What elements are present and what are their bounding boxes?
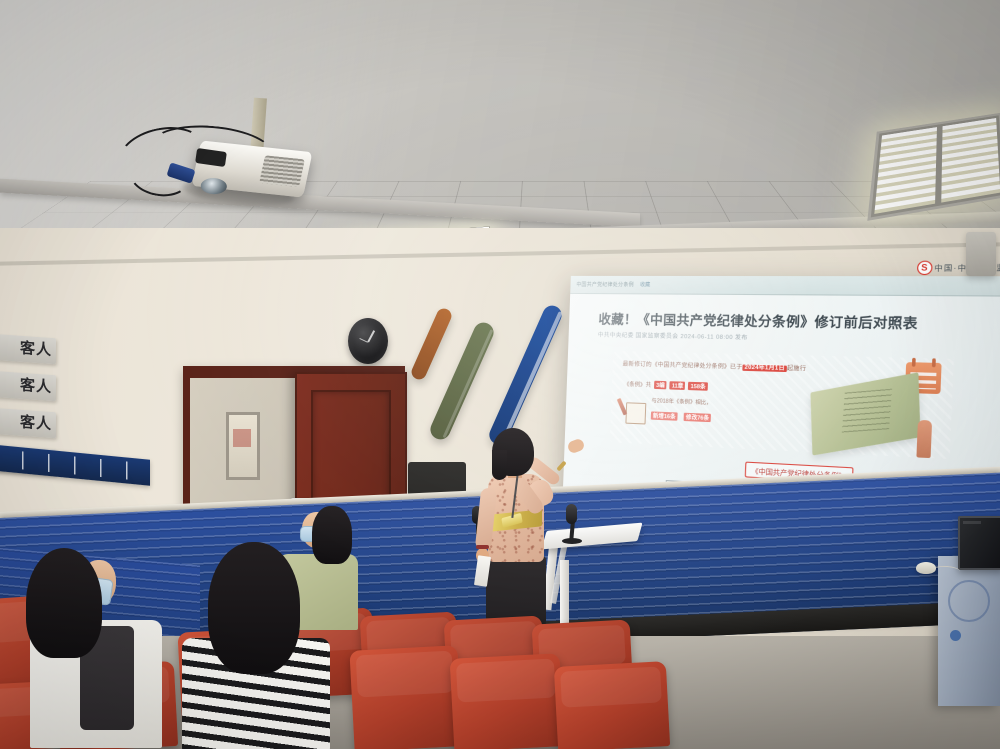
wall-plaque: 客人 (0, 371, 56, 401)
panel-light-cell-right (941, 118, 1000, 203)
control-podium[interactable] (938, 556, 1000, 706)
sogou-logo-icon: S (916, 261, 932, 275)
presenter-hair-side (492, 450, 507, 480)
wall-plaque: 客人 (0, 334, 56, 364)
podium-logo (950, 630, 961, 641)
panel-light-cell-left (874, 127, 937, 214)
change-badge: 新增16条 (651, 411, 678, 420)
pen-and-paper-icon (620, 398, 647, 424)
audience-member-1 (20, 548, 170, 748)
stat-badge: 3编 (654, 381, 667, 390)
door-panel-top (311, 390, 391, 508)
computer-mouse[interactable] (916, 562, 936, 574)
infographic-effective-date-line: 最新修订的《中国共产党纪律处分条例》已于2024年1月1日起施行 (623, 359, 874, 374)
infographic-card: 最新修订的《中国共产党纪律处分条例》已于2024年1月1日起施行 《条例》共 3… (610, 351, 954, 459)
browser-toolbar[interactable]: 中国共产党纪律处分条例 收藏 (570, 276, 1000, 297)
hallway-window (226, 412, 260, 480)
browser-tab-label: 收藏 (640, 281, 650, 288)
presenter-wristwatch (556, 461, 566, 472)
effective-date-prefix: 最新修订的《中国共产党纪律处分条例》已于 (623, 361, 743, 370)
effective-date-highlight: 2024年1月1日 (742, 365, 787, 373)
wall-clock-icon (348, 318, 388, 364)
infographic-stats-row: 《条例》共 3编 11章 158条 (624, 380, 708, 391)
audience-1-hair (26, 548, 102, 658)
book-illustration-figure (916, 420, 932, 458)
seat (554, 661, 670, 749)
conference-room-photo: 客人 客人 客人 客人 中国共产党纪律处分条例 收藏 S 中国·中国纪检监察报 (0, 0, 1000, 749)
wall-plaque: 客人 (0, 408, 56, 438)
audience-member-2 (182, 542, 330, 748)
audience-2-hair (208, 542, 300, 674)
seat (349, 645, 462, 749)
infographic-compare-note: 与2018年《条例》相比， (651, 397, 711, 406)
podium-logo-icon (950, 630, 961, 641)
seat (450, 653, 565, 749)
effective-date-suffix: 起施行 (787, 366, 806, 373)
presenter-bracelet (476, 545, 489, 549)
podium-monitor[interactable] (958, 516, 1000, 570)
stat-badge: 158条 (688, 382, 707, 391)
stat-badge: 11章 (670, 381, 686, 390)
wall-speaker-icon (966, 232, 996, 276)
stats-label: 《条例》共 (624, 380, 651, 389)
pen-icon-pad (625, 402, 646, 424)
change-badge: 修改76条 (684, 413, 712, 422)
browser-address-text: 中国共产党纪律处分条例 (576, 281, 634, 288)
open-book-illustration (810, 372, 920, 455)
infographic-changes-row: 新增16条 修改76条 (651, 411, 712, 422)
presenter-pointing-hand (566, 437, 585, 454)
